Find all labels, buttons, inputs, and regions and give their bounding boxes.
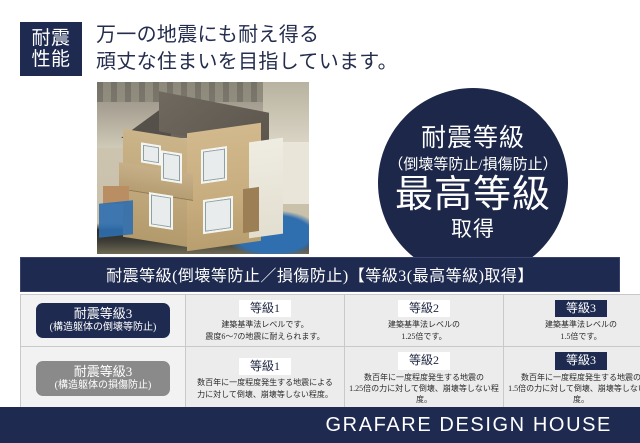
headline-line-2: 頑丈な住まいを目指しています。 bbox=[96, 49, 426, 76]
row-label-cell: 耐震等級3 (構造躯体の倒壊等防止) bbox=[21, 295, 186, 347]
house-window bbox=[201, 146, 227, 184]
table-row: 耐震等級3 (構造躯体の倒壊等防止) 等級1 建築基準法レベルです。 震度6～7… bbox=[21, 295, 640, 347]
grade-table-block: 耐震等級(倒壊等防止／損傷防止)【等級3(最高等級)取得】 耐震等級3 (構造躯… bbox=[20, 257, 620, 411]
seal-line-2: （倒壊等防止/損傷防止） bbox=[388, 157, 557, 174]
table-row: 耐震等級3 (構造躯体の損傷防止) 等級1 数百年に一度程度発生する地震による … bbox=[21, 347, 640, 410]
grade-3-cell: 等級3 建築基準法レベルの 1.5倍です。 bbox=[504, 295, 640, 347]
seismic-performance-badge: 耐震 性能 bbox=[20, 22, 82, 76]
footer-bar: GRAFARE DESIGN HOUSE bbox=[0, 407, 640, 443]
grade-description: 数百年に一度程度発生する地震の 1.25倍の力に対して倒壊、崩壊等しない程度。 bbox=[349, 372, 499, 406]
seal-line-1: 耐震等級 bbox=[421, 125, 525, 153]
row-label-line1: 耐震等級3 bbox=[38, 365, 168, 380]
grade-description-line2: 1.25倍です。 bbox=[349, 331, 499, 342]
house-window bbox=[161, 150, 182, 183]
grade-description: 建築基準法レベルの 1.5倍です。 bbox=[508, 319, 640, 342]
house-test-photo bbox=[97, 82, 309, 254]
grade-description-line2: 1.5倍です。 bbox=[508, 331, 640, 342]
corner-badge-line2: 性能 bbox=[31, 50, 70, 71]
grade-description-line2: 震度6～7の地震に耐えられます。 bbox=[190, 331, 340, 342]
row-label-line1: 耐震等級3 bbox=[38, 307, 168, 322]
poster-page: 耐震 性能 万一の地震にも耐え得る 頑丈な住まいを目指しています。 bbox=[0, 0, 640, 443]
row-label-badge: 耐震等級3 (構造躯体の損傷防止) bbox=[36, 361, 170, 396]
grade-chip: 等級2 bbox=[398, 352, 450, 369]
seismic-grade-table: 耐震等級3 (構造躯体の倒壊等防止) 等級1 建築基準法レベルです。 震度6～7… bbox=[20, 294, 640, 411]
grade-description-line2: 力に対して倒壊、崩壊等しない程度。 bbox=[190, 389, 340, 400]
grade-description: 建築基準法レベルの 1.25倍です。 bbox=[349, 319, 499, 342]
header: 耐震 性能 万一の地震にも耐え得る 頑丈な住まいを目指しています。 bbox=[0, 0, 640, 80]
row-label-line2: (構造躯体の倒壊等防止) bbox=[38, 322, 168, 333]
grade-description-line1: 建築基準法レベルです。 bbox=[190, 319, 340, 330]
grade-chip: 等級1 bbox=[239, 358, 291, 375]
headline-line-1: 万一の地震にも耐え得る bbox=[96, 24, 319, 46]
grade-description-line1: 数百年に一度程度発生する地震による bbox=[190, 377, 340, 388]
house-window bbox=[149, 192, 173, 230]
blue-tarp bbox=[99, 200, 133, 238]
grade-description-line1: 建築基準法レベルの bbox=[508, 319, 640, 330]
grade-chip: 等級2 bbox=[398, 300, 450, 317]
grade-chip-highlighted: 等級3 bbox=[555, 352, 607, 369]
grade-description: 建築基準法レベルです。 震度6～7の地震に耐えられます。 bbox=[190, 319, 340, 342]
row-label-cell: 耐震等級3 (構造躯体の損傷防止) bbox=[21, 347, 186, 410]
grade-description-line2: 1.25倍の力に対して倒壊、崩壊等しない程度。 bbox=[349, 383, 499, 406]
grade-1-cell: 等級1 数百年に一度程度発生する地震による 力に対して倒壊、崩壊等しない程度。 bbox=[186, 347, 345, 410]
photo-illustration bbox=[97, 82, 309, 254]
page-title: 万一の地震にも耐え得る 頑丈な住まいを目指しています。 bbox=[96, 22, 426, 76]
grade-description-line1: 建築基準法レベルの bbox=[349, 319, 499, 330]
seal-line-3: 最高等級 bbox=[395, 175, 551, 217]
table-title-bar: 耐震等級(倒壊等防止／損傷防止)【等級3(最高等級)取得】 bbox=[20, 257, 620, 292]
corner-badge-line1: 耐震 bbox=[31, 29, 70, 50]
grade-description-line2: 1.5倍の力に対して倒壊、崩壊等しない程度。 bbox=[508, 383, 640, 406]
row-label-line2: (構造躯体の損傷防止) bbox=[38, 380, 168, 391]
house-door bbox=[243, 187, 259, 233]
house-window bbox=[141, 142, 161, 165]
grade-description: 数百年に一度程度発生する地震の 1.5倍の力に対して倒壊、崩壊等しない程度。 bbox=[508, 372, 640, 406]
grade-description-line1: 数百年に一度程度発生する地震の bbox=[349, 372, 499, 383]
grade-seal: 耐震等級 （倒壊等防止/損傷防止） 最高等級 取得 bbox=[378, 88, 568, 278]
grade-2-cell: 等級2 数百年に一度程度発生する地震の 1.25倍の力に対して倒壊、崩壊等しない… bbox=[345, 347, 504, 410]
grade-description: 数百年に一度程度発生する地震による 力に対して倒壊、崩壊等しない程度。 bbox=[190, 377, 340, 400]
grade-chip-highlighted: 等級3 bbox=[555, 300, 607, 317]
brand-logo: GRAFARE DESIGN HOUSE bbox=[326, 414, 640, 437]
grade-1-cell: 等級1 建築基準法レベルです。 震度6～7の地震に耐えられます。 bbox=[186, 295, 345, 347]
row-label-badge: 耐震等級3 (構造躯体の倒壊等防止) bbox=[36, 303, 170, 338]
grade-2-cell: 等級2 建築基準法レベルの 1.25倍です。 bbox=[345, 295, 504, 347]
house-window bbox=[203, 196, 233, 234]
seal-line-4: 取得 bbox=[451, 218, 495, 241]
grade-3-cell: 等級3 数百年に一度程度発生する地震の 1.5倍の力に対して倒壊、崩壊等しない程… bbox=[504, 347, 640, 410]
grade-chip: 等級1 bbox=[239, 300, 291, 317]
grade-description-line1: 数百年に一度程度発生する地震の bbox=[508, 372, 640, 383]
